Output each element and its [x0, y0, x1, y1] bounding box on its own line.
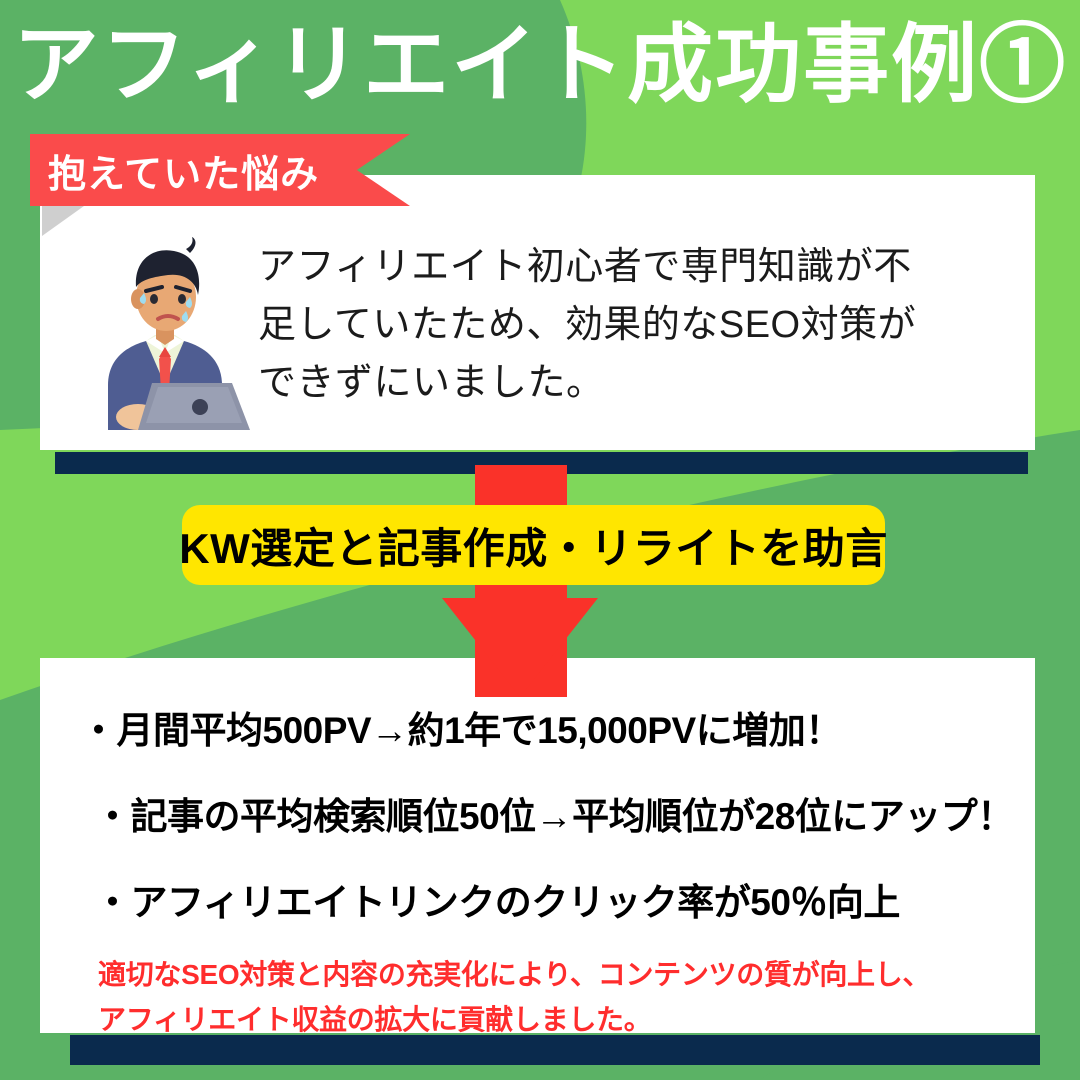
problem-text-line: アフィリエイト初心者で専門知識が不	[258, 239, 916, 297]
ribbon-shape: 抱えていた悩み	[30, 134, 410, 206]
problem-text-line: 足していたため、効果的なSEO対策が	[258, 297, 916, 355]
ribbon-fold-shadow	[42, 206, 84, 236]
problem-content: アフィリエイト初心者で専門知識が不 足していたため、効果的なSEO対策が できず…	[40, 235, 1035, 430]
results-card-bottom-bar	[70, 1035, 1040, 1065]
advice-banner: KW選定と記事作成・リライトを助言	[182, 505, 885, 585]
advice-banner-label: KW選定と記事作成・リライトを助言	[179, 515, 887, 576]
results-card: ・月間平均500PV→約1年で15,000PVに増加！ ・記事の平均検索順位50…	[40, 658, 1035, 1033]
result-bullet: ・月間平均500PV→約1年で15,000PVに増加！	[80, 700, 995, 754]
worried-businessman-laptop-illustration	[80, 235, 250, 430]
ribbon-label: 抱えていた悩み	[30, 143, 319, 198]
results-content: ・月間平均500PV→約1年で15,000PVに増加！ ・記事の平均検索順位50…	[40, 700, 1035, 1043]
results-summary: 適切なSEO対策と内容の充実化により、コンテンツの質が向上し、 アフィリエイト収…	[80, 952, 995, 1043]
problem-ribbon: 抱えていた悩み	[30, 134, 410, 206]
problem-card: アフィリエイト初心者で専門知識が不 足していたため、効果的なSEO対策が できず…	[40, 175, 1035, 450]
results-summary-line: 適切なSEO対策と内容の充実化により、コンテンツの質が向上し、	[98, 952, 995, 997]
problem-text-line: できずにいました。	[258, 355, 916, 413]
page-title: アフィリエイト成功事例①	[0, 18, 1080, 113]
result-bullet: ・アフィリエイトリンクのクリック率が50％向上	[80, 872, 995, 926]
problem-text: アフィリエイト初心者で専門知識が不 足していたため、効果的なSEO対策が できず…	[258, 235, 916, 412]
result-bullet: ・記事の平均検索順位50位→平均順位が28位にアップ！	[80, 786, 995, 840]
down-arrow-icon	[442, 598, 598, 697]
